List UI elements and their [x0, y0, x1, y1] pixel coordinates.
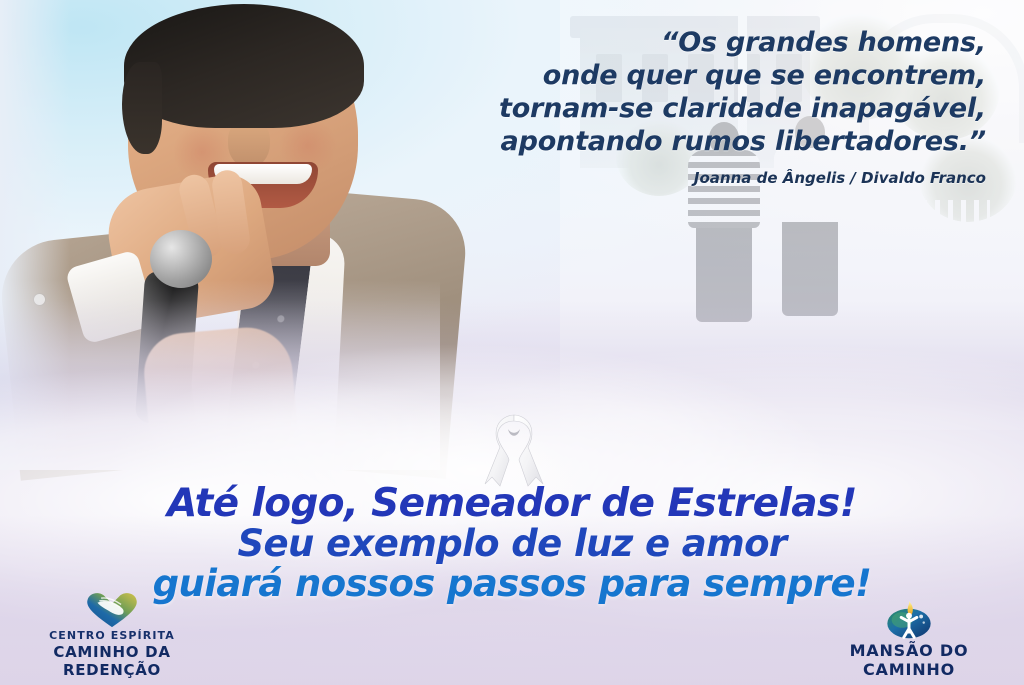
quote-line-1: “Os grandes homens, [426, 26, 986, 59]
quote-attribution: Joanna de Ângelis / Divaldo Franco [426, 169, 986, 187]
centro-espirita-logo-block: CENTRO ESPÍRITA CAMINHO DA REDENÇÃO [12, 589, 212, 679]
globe-figure-flame-logo-icon [804, 601, 1014, 641]
headline-block: Até logo, Semeador de Estrelas! Seu exem… [0, 484, 1024, 604]
centro-espirita-line-2: CAMINHO DA REDENÇÃO [12, 643, 212, 679]
mansao-do-caminho-logo-block: MANSÃO DO CAMINHO [804, 601, 1014, 679]
headline-line-1: Até logo, Semeador de Estrelas! [0, 484, 1024, 524]
white-mourning-ribbon-icon [478, 407, 550, 489]
hair-sideburn [122, 62, 162, 154]
quote-line-3: tornam-se claridade inapagável, [426, 92, 986, 125]
memorial-poster: “Os grandes homens, onde quer que se enc… [0, 0, 1024, 685]
heart-hands-logo-icon [12, 589, 212, 629]
mansao-do-caminho-label: MANSÃO DO CAMINHO [804, 641, 1014, 679]
headline-line-2: Seu exemplo de luz e amor [0, 524, 1024, 564]
quote-block: “Os grandes homens, onde quer que se enc… [426, 26, 986, 187]
centro-espirita-line-1: CENTRO ESPÍRITA [12, 629, 212, 643]
quote-line-2: onde quer que se encontrem, [426, 59, 986, 92]
quote-line-4: apontando rumos libertadores.” [426, 125, 986, 158]
